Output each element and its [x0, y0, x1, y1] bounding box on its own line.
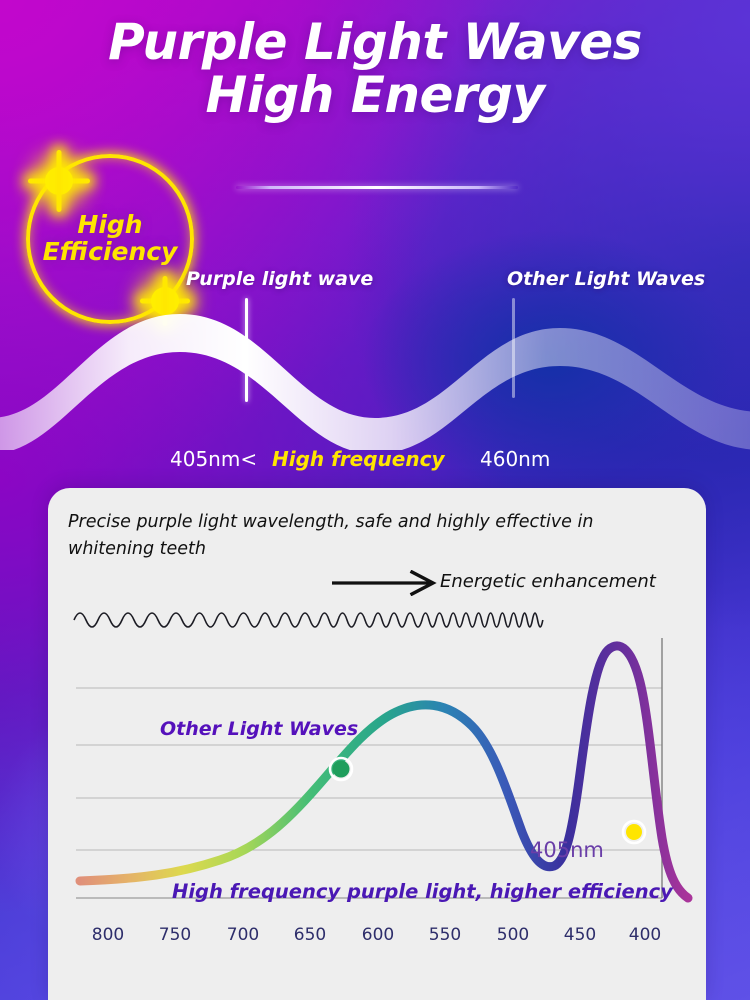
badge-line-2: Efficiency — [43, 237, 178, 266]
title-divider — [236, 186, 518, 189]
title-line-1: Purple Light Waves — [108, 13, 642, 71]
info-card: Precise purple light wavelength, safe an… — [48, 488, 706, 1000]
chart-label-high-frequency: High frequency purple light, higher effi… — [172, 880, 673, 903]
chart-label-405nm: 405nm — [530, 838, 604, 862]
energetic-enhancement-group: Energetic enhancement — [330, 570, 690, 600]
x-tick-3: 650 — [294, 925, 326, 945]
label-purple-light-wave: Purple light wave — [186, 268, 373, 290]
x-tick-8: 400 — [629, 925, 661, 945]
arrow-label: Energetic enhancement — [440, 571, 656, 592]
arrow-right-icon — [330, 570, 445, 596]
badge-line-1: High — [77, 210, 142, 239]
x-tick-7: 450 — [564, 925, 596, 945]
high-frequency-label: High frequency — [272, 447, 445, 471]
chart-x-axis-labels: 800 750 700 650 600 550 500 450 400 — [0, 925, 750, 951]
hero-wave-graphic — [0, 300, 750, 450]
frequency-ripple-wave — [74, 613, 543, 627]
marker-green — [330, 758, 352, 780]
marker-405nm — [623, 821, 645, 843]
card-description: Precise purple light wavelength, safe an… — [68, 509, 684, 563]
label-other-light-waves-hero: Other Light Waves — [507, 268, 705, 290]
wavelength-row: 405nm< High frequency 460nm — [0, 447, 750, 473]
high-efficiency-badge: High Efficiency — [26, 154, 194, 324]
x-tick-6: 500 — [497, 925, 529, 945]
tick-marker-purple — [245, 298, 248, 402]
x-tick-1: 750 — [159, 925, 191, 945]
x-tick-4: 600 — [362, 925, 394, 945]
poster-root: Purple Light Waves High Energy High Effi… — [0, 0, 750, 1000]
x-tick-0: 800 — [92, 925, 124, 945]
x-tick-5: 550 — [429, 925, 461, 945]
tick-marker-other — [512, 298, 515, 398]
sparkle-icon — [28, 150, 90, 212]
page-title: Purple Light Waves High Energy — [0, 16, 750, 122]
title-line-2: High Energy — [0, 69, 750, 122]
badge-text: High Efficiency — [14, 211, 206, 265]
chart-label-other-light-waves: Other Light Waves — [160, 718, 358, 740]
wavelength-460-label: 460nm — [480, 447, 550, 471]
x-tick-2: 700 — [227, 925, 259, 945]
wavelength-405-label: 405nm< — [170, 447, 257, 471]
